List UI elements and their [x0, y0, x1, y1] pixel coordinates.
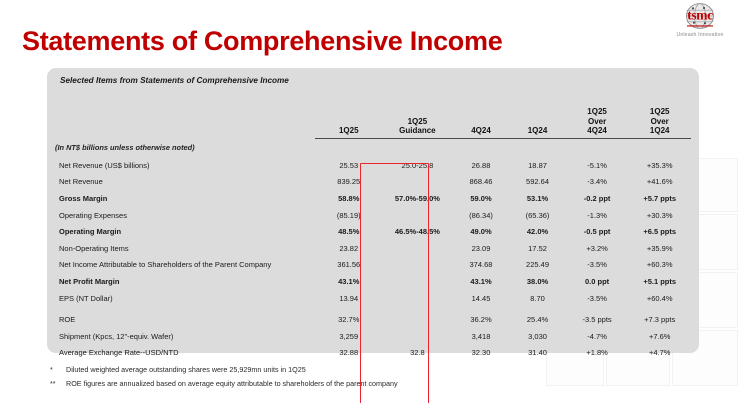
cell-4q24: 49.0%: [453, 223, 510, 240]
footnote-text: Diluted weighted average outstanding sha…: [66, 365, 648, 374]
cell-1q24: 38.0%: [509, 273, 566, 290]
row-label: Net Income Attributable to Shareholders …: [55, 257, 315, 274]
cell-over-1q24: +35.3%: [628, 157, 691, 174]
financial-table: 1Q25 1Q25 Guidance 4Q24 1Q24 1Q25 Over: [55, 94, 691, 361]
table-panel: Selected Items from Statements of Compre…: [47, 68, 699, 353]
cell-4q24: 868.46: [453, 174, 510, 191]
cell-4q24: 26.88: [453, 157, 510, 174]
cell-over-1q24: +60.4%: [628, 290, 691, 307]
cell-1q24: 3,030: [509, 328, 566, 345]
cell-guidance: 46.5%-48.5%: [382, 223, 453, 240]
cell-over-1q24: +30.3%: [628, 207, 691, 224]
footnote-item: ** ROE figures are annualized based on a…: [48, 379, 648, 388]
cell-guidance: 57.0%-59.0%: [382, 190, 453, 207]
table-header-row: 1Q25 1Q25 Guidance 4Q24 1Q24 1Q25 Over: [55, 94, 691, 139]
cell-4q24: (86.34): [453, 207, 510, 224]
unit-note: (In NT$ billions unless otherwise noted): [55, 139, 315, 158]
cell-1q25: 13.94: [315, 290, 382, 307]
table-row: Operating Margin48.5%46.5%-48.5%49.0%42.…: [55, 223, 691, 240]
footnote-text: ROE figures are annualized based on aver…: [66, 379, 648, 388]
cell-1q25: 25.53: [315, 157, 382, 174]
col-header-1q25-over-1q24: 1Q25 Over 1Q24: [628, 94, 691, 139]
table-row: ROE32.7%36.2%25.4%-3.5 ppts+7.3 ppts: [55, 306, 691, 328]
row-label: Non-Operating Items: [55, 240, 315, 257]
cell-over-1q24: +5.1 ppts: [628, 273, 691, 290]
cell-guidance: [382, 257, 453, 274]
logo-tagline: Unleash Innovation: [668, 32, 732, 38]
globe-icon: tsmc: [668, 3, 732, 30]
cell-4q24: 14.45: [453, 290, 510, 307]
table-row: Net Revenue839.25868.46592.64-3.4%+41.6%: [55, 174, 691, 191]
cell-over-4q24: 0.0 ppt: [566, 273, 629, 290]
slide-canvas: tsmc Unleash Innovation Statements of Co…: [0, 0, 740, 403]
footnote-marker: *: [48, 365, 66, 374]
row-label: Net Revenue: [55, 174, 315, 191]
footnote-item: * Diluted weighted average outstanding s…: [48, 365, 648, 374]
table-row: EPS (NT Dollar)13.9414.458.70-3.5%+60.4%: [55, 290, 691, 307]
cell-over-1q24: +7.6%: [628, 328, 691, 345]
col-header-label: [55, 94, 315, 139]
row-label: EPS (NT Dollar): [55, 290, 315, 307]
cell-1q24: 31.40: [509, 345, 566, 362]
table-row: Non-Operating Items23.8223.0917.52+3.2%+…: [55, 240, 691, 257]
cell-over-4q24: -3.5 ppts: [566, 306, 629, 328]
cell-over-1q24: +60.3%: [628, 257, 691, 274]
col-header-1q25-over-4q24: 1Q25 Over 4Q24: [566, 94, 629, 139]
cell-1q25: 48.5%: [315, 223, 382, 240]
footnotes: * Diluted weighted average outstanding s…: [48, 365, 648, 393]
table-row: Shipment (Kpcs, 12"-equiv. Wafer)3,2593,…: [55, 328, 691, 345]
row-label: Net Profit Margin: [55, 273, 315, 290]
row-label: Operating Expenses: [55, 207, 315, 224]
cell-1q24: 17.52: [509, 240, 566, 257]
cell-1q25: 839.25: [315, 174, 382, 191]
cell-1q24: 8.70: [509, 290, 566, 307]
cell-4q24: 43.1%: [453, 273, 510, 290]
cell-over-4q24: -0.5 ppt: [566, 223, 629, 240]
table-row: Gross Margin58.8%57.0%-59.0%59.0%53.1%-0…: [55, 190, 691, 207]
table-row: Net Profit Margin43.1%43.1%38.0%0.0 ppt+…: [55, 273, 691, 290]
col-header-4q24: 4Q24: [453, 94, 510, 139]
cell-guidance: [382, 174, 453, 191]
cell-over-1q24: +6.5 ppts: [628, 223, 691, 240]
cell-over-4q24: -3.5%: [566, 290, 629, 307]
col-header-1q24: 1Q24: [509, 94, 566, 139]
cell-1q25: 32.88: [315, 345, 382, 362]
cell-over-4q24: -4.7%: [566, 328, 629, 345]
cell-4q24: 3,418: [453, 328, 510, 345]
cell-over-4q24: -3.5%: [566, 257, 629, 274]
page-title: Statements of Comprehensive Income: [22, 26, 502, 57]
cell-1q25: (85.19): [315, 207, 382, 224]
unit-note-row: (In NT$ billions unless otherwise noted): [55, 139, 691, 158]
table-row: Operating Expenses(85.19)(86.34)(65.36)-…: [55, 207, 691, 224]
row-label: Net Revenue (US$ billions): [55, 157, 315, 174]
cell-guidance: 32.8: [382, 345, 453, 362]
cell-1q24: 53.1%: [509, 190, 566, 207]
cell-4q24: 23.09: [453, 240, 510, 257]
cell-1q25: 32.7%: [315, 306, 382, 328]
cell-4q24: 59.0%: [453, 190, 510, 207]
cell-4q24: 36.2%: [453, 306, 510, 328]
cell-over-4q24: -1.3%: [566, 207, 629, 224]
cell-guidance: [382, 306, 453, 328]
col-header-1q25-guidance: 1Q25 Guidance: [382, 94, 453, 139]
row-label: ROE: [55, 306, 315, 328]
cell-1q25: 23.82: [315, 240, 382, 257]
cell-guidance: [382, 240, 453, 257]
row-label: Average Exchange Rate--USD/NTD: [55, 345, 315, 362]
cell-1q24: (65.36): [509, 207, 566, 224]
footnote-marker: **: [48, 379, 66, 388]
cell-guidance: [382, 273, 453, 290]
table-row: Net Revenue (US$ billions)25.5325.0-25.8…: [55, 157, 691, 174]
cell-over-4q24: +1.8%: [566, 345, 629, 362]
row-label: Gross Margin: [55, 190, 315, 207]
cell-1q24: 225.49: [509, 257, 566, 274]
row-label: Operating Margin: [55, 223, 315, 240]
cell-guidance: 25.0-25.8: [382, 157, 453, 174]
cell-over-4q24: -3.4%: [566, 174, 629, 191]
cell-over-4q24: -0.2 ppt: [566, 190, 629, 207]
cell-over-4q24: +3.2%: [566, 240, 629, 257]
cell-1q25: 58.8%: [315, 190, 382, 207]
panel-caption: Selected Items from Statements of Compre…: [60, 76, 289, 85]
cell-over-1q24: +5.7 ppts: [628, 190, 691, 207]
cell-1q24: 42.0%: [509, 223, 566, 240]
col-header-1q25: 1Q25: [315, 94, 382, 139]
cell-4q24: 32.30: [453, 345, 510, 362]
cell-1q24: 592.64: [509, 174, 566, 191]
row-label: Shipment (Kpcs, 12"-equiv. Wafer): [55, 328, 315, 345]
cell-1q25: 361.56: [315, 257, 382, 274]
cell-1q24: 18.87: [509, 157, 566, 174]
cell-over-4q24: -5.1%: [566, 157, 629, 174]
cell-over-1q24: +7.3 ppts: [628, 306, 691, 328]
cell-guidance: [382, 207, 453, 224]
cell-1q24: 25.4%: [509, 306, 566, 328]
cell-1q25: 3,259: [315, 328, 382, 345]
cell-over-1q24: +4.7%: [628, 345, 691, 362]
cell-over-1q24: +41.6%: [628, 174, 691, 191]
cell-over-1q24: +35.9%: [628, 240, 691, 257]
table-body: (In NT$ billions unless otherwise noted)…: [55, 139, 691, 362]
svg-text:tsmc: tsmc: [687, 8, 713, 23]
table-row: Average Exchange Rate--USD/NTD32.8832.83…: [55, 345, 691, 362]
cell-1q25: 43.1%: [315, 273, 382, 290]
cell-guidance: [382, 328, 453, 345]
cell-4q24: 374.68: [453, 257, 510, 274]
tsmc-logo: tsmc Unleash Innovation: [668, 3, 732, 38]
table-row: Net Income Attributable to Shareholders …: [55, 257, 691, 274]
cell-guidance: [382, 290, 453, 307]
